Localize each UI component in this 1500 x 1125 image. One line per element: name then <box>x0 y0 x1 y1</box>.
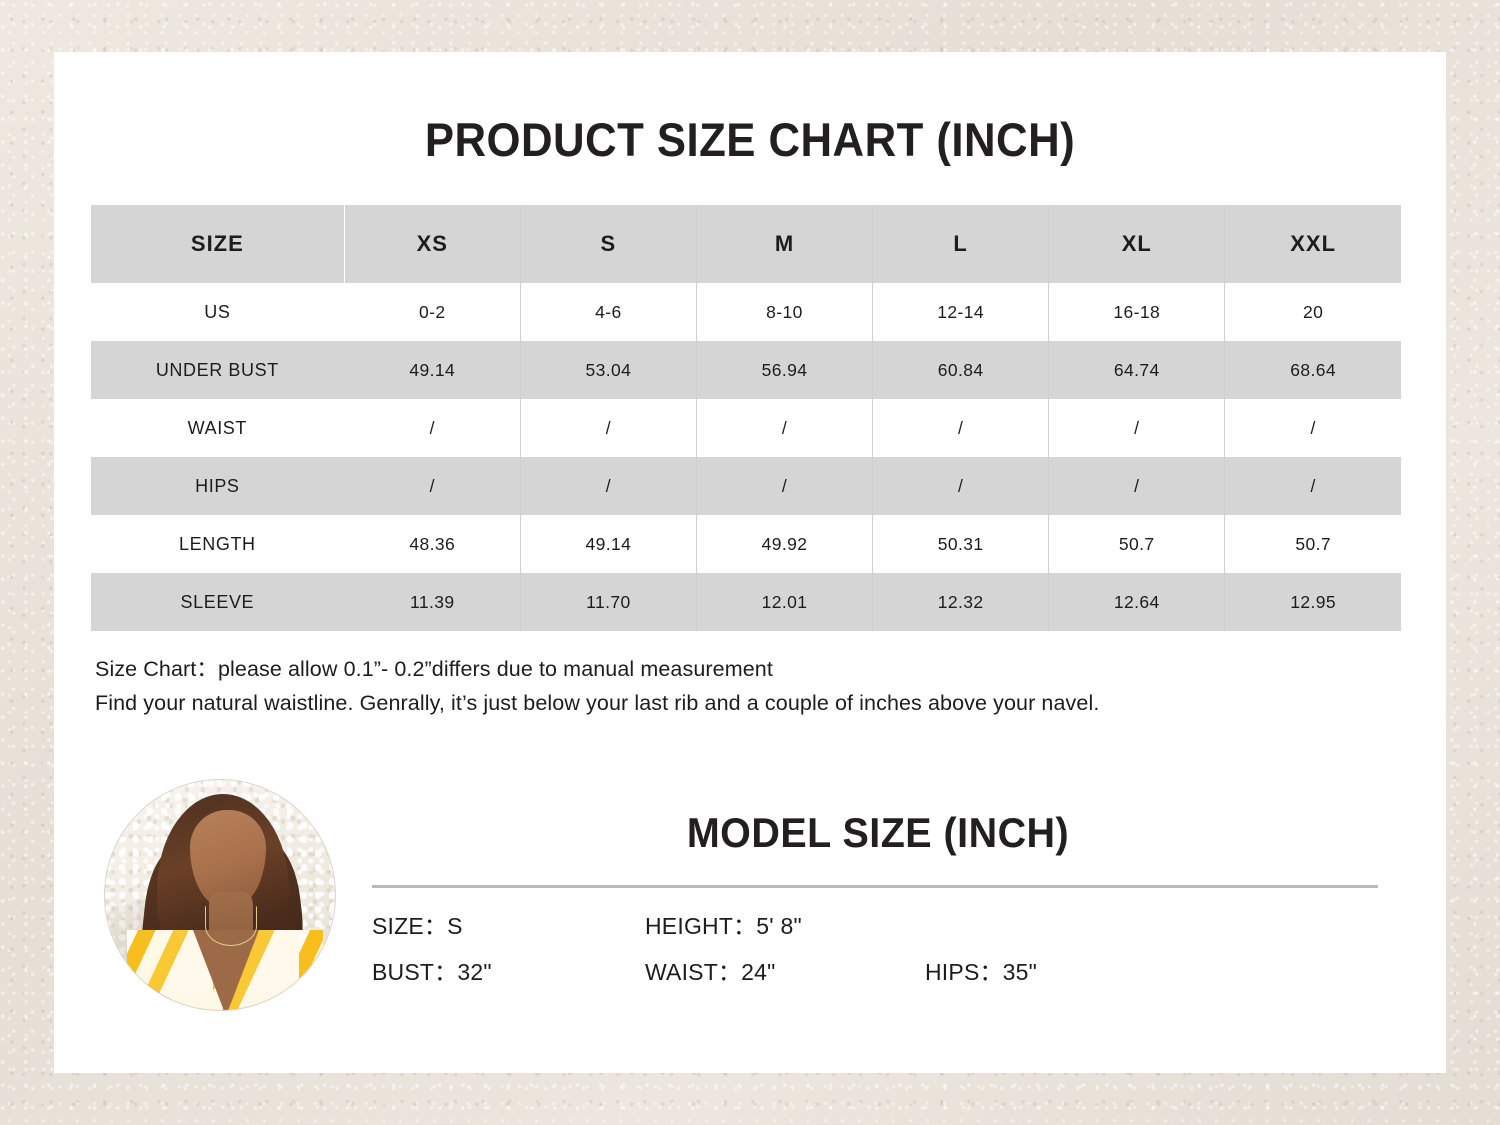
table-cell: 50.31 <box>873 515 1049 573</box>
table-cell: 11.39 <box>344 573 520 631</box>
table-cell: 12.95 <box>1225 573 1401 631</box>
table-cell: 12.32 <box>873 573 1049 631</box>
table-cell: / <box>696 399 872 457</box>
table-cell: 12.64 <box>1049 573 1225 631</box>
measurement-notes: Size Chart：please allow 0.1”- 0.2”differ… <box>95 652 1375 720</box>
table-cell: / <box>520 399 696 457</box>
table-cell: / <box>344 457 520 515</box>
table-cell: 0-2 <box>344 283 520 341</box>
size-table-header: SIZE XS S M L XL XXL <box>91 205 1401 283</box>
table-cell: 20 <box>1225 283 1401 341</box>
model-photo <box>105 780 335 1010</box>
column-header-s: S <box>520 205 696 283</box>
row-label-us: US <box>91 283 344 341</box>
model-spec-bust: BUST：32" <box>372 953 492 987</box>
model-spec-height: HEIGHT：5' 8" <box>645 907 802 941</box>
table-cell: / <box>696 457 872 515</box>
table-row: LENGTH 48.36 49.14 49.92 50.31 50.7 50.7 <box>91 515 1401 573</box>
model-spec-hips: HIPS：35" <box>925 953 1037 987</box>
column-header-m: M <box>696 205 872 283</box>
row-label-length: LENGTH <box>91 515 344 573</box>
model-size-divider <box>372 885 1378 888</box>
table-cell: 49.92 <box>696 515 872 573</box>
table-cell: 50.7 <box>1225 515 1401 573</box>
table-cell: 11.70 <box>520 573 696 631</box>
model-specs-row-1: SIZE：S HEIGHT：5' 8" <box>372 907 1382 953</box>
row-label-waist: WAIST <box>91 399 344 457</box>
table-cell: 50.7 <box>1049 515 1225 573</box>
model-spec-waist: WAIST：24" <box>645 953 776 987</box>
table-row: WAIST / / / / / / <box>91 399 1401 457</box>
table-row: US 0-2 4-6 8-10 12-14 16-18 20 <box>91 283 1401 341</box>
table-cell: 4-6 <box>520 283 696 341</box>
page-title: PRODUCT SIZE CHART (INCH) <box>103 112 1398 167</box>
table-cell: 49.14 <box>344 341 520 399</box>
model-size-title: MODEL SIZE (INCH) <box>402 809 1353 857</box>
model-necklace <box>205 906 257 946</box>
size-table-body: US 0-2 4-6 8-10 12-14 16-18 20 UNDER BUS… <box>91 283 1401 631</box>
table-cell: 68.64 <box>1225 341 1401 399</box>
table-cell: / <box>873 457 1049 515</box>
column-header-l: L <box>873 205 1049 283</box>
column-header-xs: XS <box>344 205 520 283</box>
table-cell: 60.84 <box>873 341 1049 399</box>
size-chart-card: PRODUCT SIZE CHART (INCH) SIZE XS S M L … <box>54 52 1446 1073</box>
table-row: HIPS / / / / / / <box>91 457 1401 515</box>
model-size-specs: SIZE：S HEIGHT：5' 8" BUST：32" WAIST：24" H… <box>372 907 1382 999</box>
note-line-tolerance: Size Chart：please allow 0.1”- 0.2”differ… <box>95 652 1375 686</box>
table-header-row: SIZE XS S M L XL XXL <box>91 205 1401 283</box>
table-cell: / <box>1049 399 1225 457</box>
table-cell: / <box>520 457 696 515</box>
table-row: UNDER BUST 49.14 53.04 56.94 60.84 64.74… <box>91 341 1401 399</box>
table-cell: / <box>1225 457 1401 515</box>
column-header-xl: XL <box>1049 205 1225 283</box>
table-cell: 12-14 <box>873 283 1049 341</box>
table-cell: 8-10 <box>696 283 872 341</box>
model-spec-size: SIZE：S <box>372 907 463 941</box>
table-cell: 53.04 <box>520 341 696 399</box>
column-header-size: SIZE <box>91 205 344 283</box>
table-cell: 48.36 <box>344 515 520 573</box>
table-cell: / <box>873 399 1049 457</box>
table-cell: 56.94 <box>696 341 872 399</box>
table-cell: / <box>1225 399 1401 457</box>
table-cell: / <box>1049 457 1225 515</box>
row-label-under-bust: UNDER BUST <box>91 341 344 399</box>
table-cell: / <box>344 399 520 457</box>
row-label-hips: HIPS <box>91 457 344 515</box>
table-row: SLEEVE 11.39 11.70 12.01 12.32 12.64 12.… <box>91 573 1401 631</box>
product-size-table: SIZE XS S M L XL XXL US 0-2 4-6 8-10 12-… <box>91 205 1401 631</box>
table-cell: 49.14 <box>520 515 696 573</box>
model-specs-row-2: BUST：32" WAIST：24" HIPS：35" <box>372 953 1382 999</box>
row-label-sleeve: SLEEVE <box>91 573 344 631</box>
table-cell: 64.74 <box>1049 341 1225 399</box>
table-cell: 16-18 <box>1049 283 1225 341</box>
note-line-waistline: Find your natural waistline. Genrally, i… <box>95 686 1375 720</box>
column-header-xxl: XXL <box>1225 205 1401 283</box>
table-cell: 12.01 <box>696 573 872 631</box>
